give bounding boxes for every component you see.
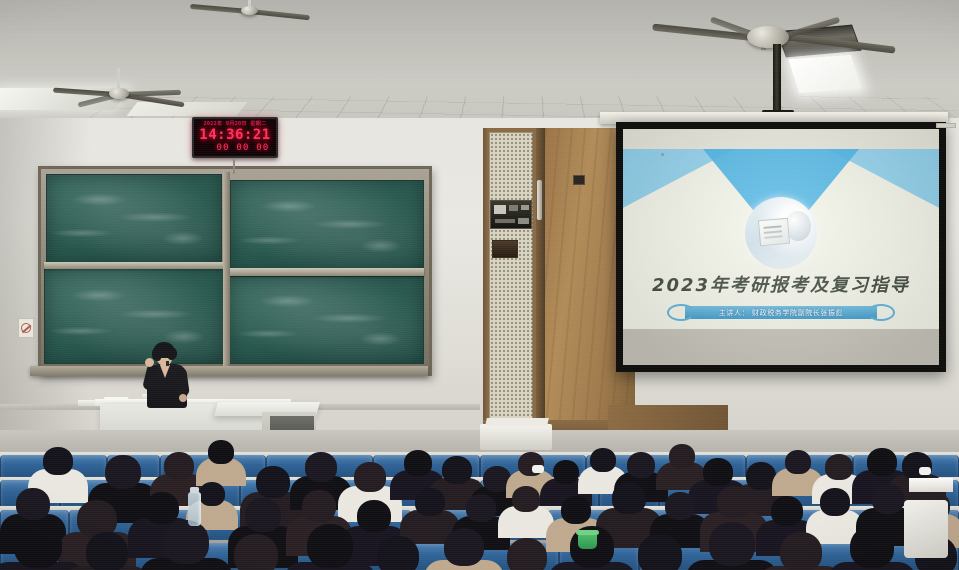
water-bottle[interactable] xyxy=(188,492,201,526)
audience-head xyxy=(16,488,50,520)
audience-head xyxy=(164,452,194,480)
audience-head xyxy=(442,456,472,484)
presenter-hand-lower xyxy=(179,394,187,402)
light-panel-2 xyxy=(127,102,248,116)
clock-time: 14:36:21 xyxy=(197,128,273,143)
lecture-hall-photo: 2022年 9月20日 星期二 14:36:21 00 00 00 xyxy=(0,0,959,570)
audience-head xyxy=(105,455,141,489)
clock-counter: 00 00 00 xyxy=(197,143,273,154)
bottle-cap xyxy=(190,487,199,493)
chalkboard-track-right xyxy=(228,268,424,276)
audience-head xyxy=(638,534,682,570)
audience-head xyxy=(785,450,811,474)
book-icon xyxy=(758,218,790,247)
ribbon-end-right xyxy=(867,304,895,321)
audience-head xyxy=(872,484,904,514)
slide-photo-circle xyxy=(745,197,817,269)
audience-head xyxy=(703,458,733,486)
paper-stack xyxy=(909,478,953,492)
audience-head xyxy=(43,447,73,475)
slide-subtitle-ribbon: 主讲人： 财政税务学院副院长张振彪 xyxy=(667,304,895,321)
face-mask xyxy=(919,467,931,475)
audience-head xyxy=(561,496,591,524)
door-handle[interactable] xyxy=(537,180,542,220)
audience-head xyxy=(307,524,353,568)
presenter-hand-raised xyxy=(145,358,154,367)
audience-head xyxy=(902,452,932,480)
audience-head xyxy=(553,460,579,484)
perforated-panel xyxy=(489,132,533,442)
light-switch[interactable] xyxy=(573,175,585,185)
chalkboard-panel-left-top[interactable] xyxy=(46,174,222,264)
column-edge xyxy=(536,128,545,448)
audience-head xyxy=(590,448,616,472)
audience-head xyxy=(444,528,484,566)
audience-head xyxy=(512,486,540,512)
audience-head xyxy=(354,462,386,492)
audience-head xyxy=(234,534,278,570)
wall-fixture xyxy=(936,123,956,128)
projector-pole xyxy=(773,44,781,114)
slide-title: 2023年考研报考及复习指导 xyxy=(623,271,939,297)
audience-member xyxy=(64,532,150,570)
chalk-tray xyxy=(30,366,428,376)
audience-head xyxy=(709,522,755,566)
audience-head xyxy=(507,538,547,570)
audience-head xyxy=(627,452,655,478)
audience-head xyxy=(14,522,62,568)
green-chalkboard xyxy=(38,166,432,376)
acoustic-column xyxy=(483,128,545,448)
audience-head xyxy=(208,440,234,464)
wall-control-panel[interactable] xyxy=(490,200,532,229)
microphone-icon xyxy=(166,361,169,366)
white-tote-bag xyxy=(904,500,948,558)
ribbon-end-left xyxy=(667,304,695,321)
audience-head xyxy=(612,482,646,514)
audience-head xyxy=(665,492,695,520)
printer-tray xyxy=(485,418,549,426)
presenter xyxy=(139,342,199,406)
clock-mount xyxy=(233,158,235,174)
audience-head xyxy=(377,536,419,570)
audience-head xyxy=(199,482,225,506)
audience-head xyxy=(415,488,445,516)
light-panel-4 xyxy=(788,55,862,93)
presenter-hair-left xyxy=(152,347,161,361)
audience-head xyxy=(163,520,209,564)
chalkboard-divider xyxy=(223,172,230,368)
green-tumbler[interactable] xyxy=(578,533,597,549)
audience-head xyxy=(305,452,337,482)
tumbler-lid xyxy=(576,530,599,535)
audience-head xyxy=(86,532,128,570)
no-smoking-icon xyxy=(18,318,34,338)
led-wall-clock: 2022年 9月20日 星期二 14:36:21 00 00 00 xyxy=(192,117,278,158)
audience-head xyxy=(245,498,281,532)
audience-head xyxy=(850,526,894,568)
column-vent xyxy=(492,240,518,258)
audience-head xyxy=(302,490,336,522)
chalkboard-panel-right-top[interactable] xyxy=(230,180,424,272)
screen-mark xyxy=(661,153,664,156)
chalkboard-panel-right-bottom[interactable] xyxy=(228,276,424,364)
chalkboard-track-left xyxy=(44,262,224,269)
audience-head xyxy=(466,494,496,522)
audience-head xyxy=(780,532,822,570)
audience-head xyxy=(256,466,290,498)
audience-head xyxy=(825,454,853,480)
audience-head xyxy=(820,488,850,516)
slide-subtitle: 主讲人： 财政税务学院副院长张振彪 xyxy=(719,308,843,318)
presentation-slide: 2023年考研报考及复习指导 主讲人： 财政税务学院副院长张振彪 xyxy=(623,149,939,335)
slide-top-strip xyxy=(623,129,939,149)
slide-bottom-strip xyxy=(623,329,939,365)
projection-screen[interactable]: 2023年考研报考及复习指导 主讲人： 财政税务学院副院长张振彪 xyxy=(616,122,946,372)
office-printer xyxy=(480,424,552,450)
presenter-hair-right xyxy=(168,347,177,360)
audience-head xyxy=(717,486,751,518)
